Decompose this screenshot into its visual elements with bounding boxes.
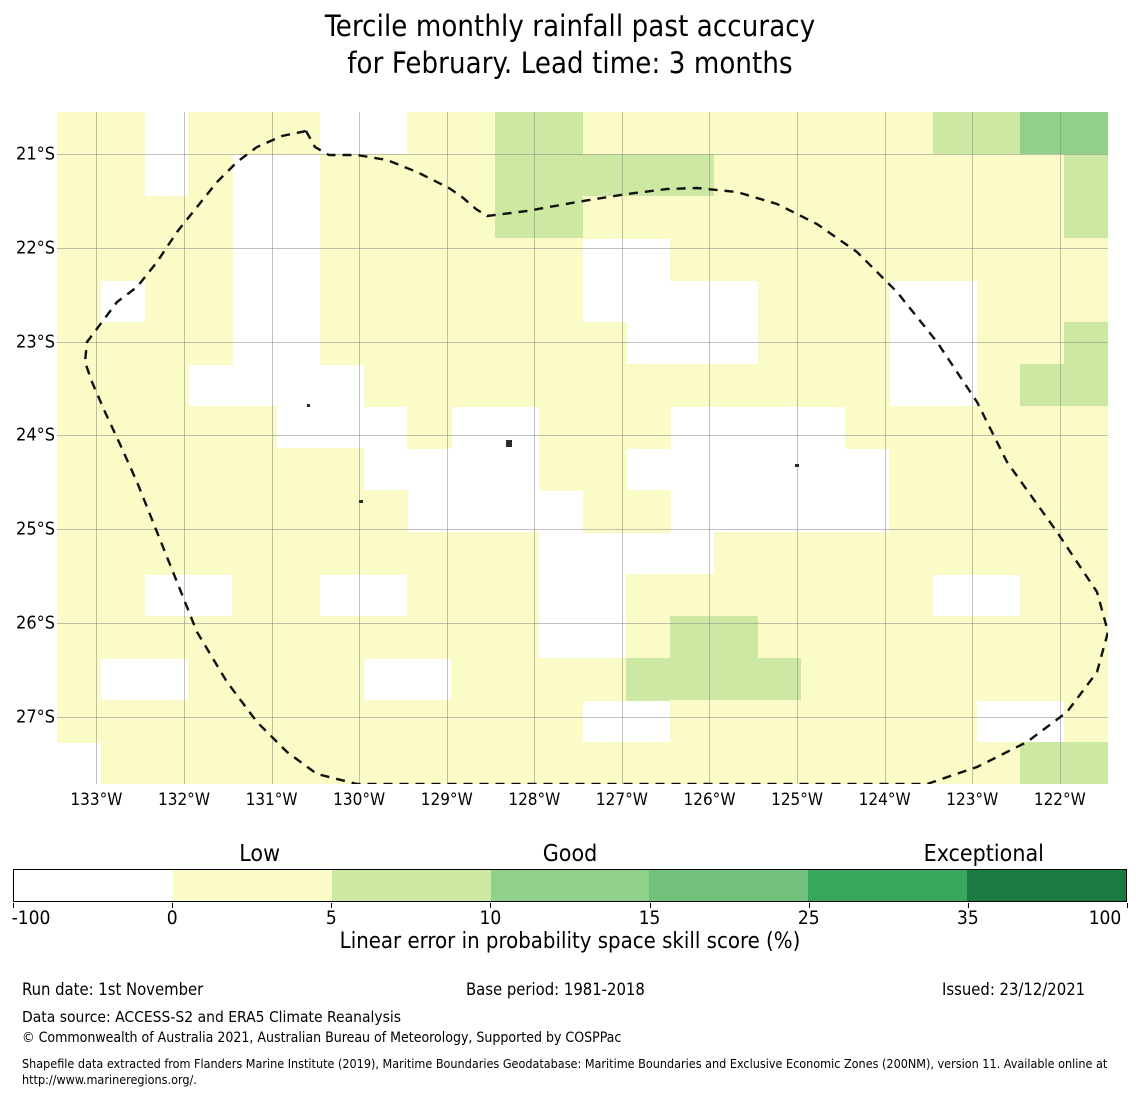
- heatmap-cell: [1020, 406, 1064, 449]
- heatmap-cell: [758, 196, 802, 239]
- heatmap-cell: [626, 574, 670, 617]
- heatmap-cell: [188, 490, 232, 533]
- heatmap-cell: [101, 448, 145, 491]
- latitude-tick-label: 26°S: [0, 612, 55, 633]
- heatmap-cell: [407, 238, 451, 281]
- latitude-tick-label: 25°S: [0, 519, 55, 540]
- heatmap-cell: [583, 448, 627, 491]
- colorbar-quality-label: Low: [239, 841, 280, 867]
- heatmap-cell: [188, 112, 232, 155]
- title-line-2: for February. Lead time: 3 months: [0, 45, 1140, 82]
- heatmap-cell: [451, 112, 495, 155]
- heatmap-cell: [933, 406, 977, 449]
- heatmap-cell: [145, 448, 189, 491]
- heatmap-cell: [451, 364, 495, 407]
- heatmap-cell: [451, 238, 495, 281]
- heatmap-cell: [451, 154, 495, 197]
- heatmap-cell: [364, 280, 408, 323]
- longitude-tick-label: 131°W: [246, 790, 298, 810]
- map-gridline-vertical: [184, 112, 185, 784]
- heatmap-cell: [1064, 112, 1108, 155]
- heatmap-cell: [845, 742, 889, 784]
- heatmap-cell: [1064, 154, 1108, 197]
- heatmap-cell: [495, 364, 539, 407]
- heatmap-cell: [232, 112, 276, 155]
- heatmap-cell: [583, 490, 627, 533]
- latitude-tick-text: 22°S: [0, 237, 55, 258]
- colorbar-tick-label: 0: [167, 907, 178, 929]
- heatmap-cell: [889, 574, 933, 617]
- heatmap-cell: [758, 532, 802, 575]
- footer-meta-row: Run date: 1st November Base period: 1981…: [0, 980, 1140, 1006]
- heatmap-cell: [801, 322, 845, 365]
- heatmap-cell: [758, 700, 802, 743]
- heatmap-cell: [495, 154, 539, 197]
- heatmap-cell: [1020, 154, 1064, 197]
- heatmap-cell: [845, 196, 889, 239]
- heatmap-cell: [57, 280, 101, 323]
- heatmap-cell: [801, 112, 845, 155]
- heatmap-cell: [145, 238, 189, 281]
- heatmap-cell: [1020, 532, 1064, 575]
- heatmap-cell: [495, 322, 539, 365]
- heatmap-cell: [626, 196, 670, 239]
- heatmap-cell: [845, 154, 889, 197]
- heatmap-cell: [276, 742, 320, 784]
- heatmap-cell: [801, 280, 845, 323]
- heatmap-cell: [670, 238, 714, 281]
- colorbar-segment: [491, 870, 650, 901]
- heatmap-cell: [145, 364, 189, 407]
- colorbar-tick-label: 25: [798, 907, 820, 929]
- heatmap-cell: [626, 490, 670, 533]
- map-gridline-vertical: [885, 112, 886, 784]
- heatmap-cell: [758, 742, 802, 784]
- colorbar-segment: [332, 870, 491, 901]
- heatmap-cell: [232, 490, 276, 533]
- heatmap-cell: [407, 574, 451, 617]
- heatmap-cell: [232, 574, 276, 617]
- heatmap-cell: [1064, 742, 1108, 784]
- heatmap-cell: [451, 532, 495, 575]
- heatmap-cell: [57, 448, 101, 491]
- heatmap-cell: [1064, 448, 1108, 491]
- heatmap-cell: [801, 196, 845, 239]
- heatmap-cell: [364, 490, 408, 533]
- heatmap-cell: [977, 364, 1021, 407]
- heatmap-cell: [495, 196, 539, 239]
- heatmap-cell: [758, 280, 802, 323]
- colorbar-tick-label: 15: [639, 907, 661, 929]
- heatmap-cell: [451, 742, 495, 784]
- map-gridline-horizontal: [57, 623, 1108, 624]
- heatmap-cell: [977, 490, 1021, 533]
- heatmap-cell: [1020, 574, 1064, 617]
- map-gridline-horizontal: [57, 248, 1108, 249]
- heatmap-cell: [1020, 322, 1064, 365]
- heatmap-cell: [57, 406, 101, 449]
- latitude-tick-text: 24°S: [0, 425, 55, 446]
- latitude-tick-text: 21°S: [0, 144, 55, 165]
- colorbar-tick-label: -100: [12, 907, 51, 929]
- heatmap-cell: [451, 574, 495, 617]
- heatmap-cell: [626, 154, 670, 197]
- heatmap-cell: [801, 700, 845, 743]
- heatmap-cell: [1020, 112, 1064, 155]
- heatmap-cell: [714, 574, 758, 617]
- heatmap-cell: [320, 742, 364, 784]
- heatmap-cell: [320, 658, 364, 701]
- heatmap-cell: [933, 490, 977, 533]
- map-gridline-vertical: [972, 112, 973, 784]
- heatmap-cell: [889, 448, 933, 491]
- heatmap-cell: [714, 154, 758, 197]
- heatmap-cell: [276, 658, 320, 701]
- heatmap-cell: [451, 196, 495, 239]
- colorbar-tick-label: 5: [326, 907, 337, 929]
- heatmap-cell: [57, 490, 101, 533]
- heatmap-cell: [57, 322, 101, 365]
- heatmap-cell: [407, 364, 451, 407]
- heatmap-cell: [101, 742, 145, 784]
- heatmap-cell: [845, 364, 889, 407]
- data-source-text: Data source: ACCESS-S2 and ERA5 Climate …: [22, 1008, 401, 1026]
- longitude-tick-label: 132°W: [158, 790, 210, 810]
- colorbar-segment: [649, 870, 808, 901]
- heatmap-cell: [276, 700, 320, 743]
- heatmap-cell: [57, 154, 101, 197]
- heatmap-cell: [583, 322, 627, 365]
- heatmap-cell: [364, 742, 408, 784]
- longitude-tick-label: 127°W: [596, 790, 648, 810]
- heatmap-cell: [670, 574, 714, 617]
- heatmap-cell: [933, 448, 977, 491]
- heatmap-cell: [539, 196, 583, 239]
- heatmap-cell: [933, 238, 977, 281]
- heatmap-cell: [407, 742, 451, 784]
- heatmap-cell: [57, 364, 101, 407]
- heatmap-cell: [407, 700, 451, 743]
- map-gridline-horizontal: [57, 435, 1108, 436]
- colorbar-segment: [808, 870, 967, 901]
- heatmap-cell: [276, 448, 320, 491]
- heatmap-cell: [889, 196, 933, 239]
- heatmap-cell: [1020, 658, 1064, 701]
- heatmap-cell: [583, 742, 627, 784]
- heatmap-cell: [670, 364, 714, 407]
- latitude-tick-label: 24°S: [0, 425, 55, 446]
- heatmap-cell: [758, 112, 802, 155]
- heatmap-cell: [320, 196, 364, 239]
- map-panel: [57, 112, 1108, 784]
- colorbar-quality-label: Exceptional: [924, 841, 1044, 867]
- heatmap-cell: [758, 238, 802, 281]
- longitude-tick-label: 123°W: [946, 790, 998, 810]
- heatmap-cell: [539, 154, 583, 197]
- base-period-text: Base period: 1981-2018: [466, 980, 645, 999]
- map-gridline-vertical: [1060, 112, 1061, 784]
- heatmap-cell: [977, 154, 1021, 197]
- heatmap-cell: [145, 490, 189, 533]
- heatmap-cell: [407, 406, 451, 449]
- heatmap-cell: [845, 700, 889, 743]
- heatmap-cell: [57, 112, 101, 155]
- footer: Run date: 1st November Base period: 1981…: [0, 980, 1140, 1006]
- heatmap-cell: [101, 700, 145, 743]
- heatmap-cell: [1020, 448, 1064, 491]
- heatmap-cell: [539, 700, 583, 743]
- heatmap-cell: [714, 532, 758, 575]
- heatmap-cell: [583, 154, 627, 197]
- heatmap-cell: [145, 322, 189, 365]
- heatmap-cell: [407, 112, 451, 155]
- island-marker: [359, 500, 363, 503]
- heatmap-cell: [1064, 280, 1108, 323]
- heatmap-cell: [1020, 490, 1064, 533]
- heatmap-cell: [188, 658, 232, 701]
- heatmap-cell: [758, 574, 802, 617]
- heatmap-cell: [1020, 196, 1064, 239]
- heatmap-cell: [845, 532, 889, 575]
- heatmap-cell: [714, 700, 758, 743]
- heatmap-cell: [364, 700, 408, 743]
- heatmap-cell: [407, 322, 451, 365]
- map-gridline-vertical: [709, 112, 710, 784]
- map-gridline-vertical: [797, 112, 798, 784]
- heatmap-cell: [977, 238, 1021, 281]
- heatmap-cell: [495, 280, 539, 323]
- figure-title: Tercile monthly rainfall past accuracy f…: [0, 8, 1140, 82]
- heatmap-cell: [889, 742, 933, 784]
- colorbar-ticks: -1000510152535100: [0, 903, 1140, 927]
- heatmap-cell: [845, 574, 889, 617]
- heatmap-cell: [57, 658, 101, 701]
- heatmap-cell: [495, 238, 539, 281]
- map-gridline-horizontal: [57, 717, 1108, 718]
- heatmap-cell: [57, 238, 101, 281]
- heatmap-cell: [714, 112, 758, 155]
- heatmap-cell: [145, 196, 189, 239]
- heatmap-cell: [758, 658, 802, 701]
- heatmap-cell: [495, 574, 539, 617]
- heatmap-cell: [1064, 574, 1108, 617]
- heatmap-cell: [670, 658, 714, 701]
- heatmap-cell: [801, 658, 845, 701]
- heatmap-cell: [276, 490, 320, 533]
- heatmap-cell: [626, 112, 670, 155]
- heatmap-cell: [364, 532, 408, 575]
- heatmap-cell: [101, 322, 145, 365]
- heatmap-cell: [933, 154, 977, 197]
- colorbar-tick-label: 10: [480, 907, 502, 929]
- heatmap-cell: [714, 196, 758, 239]
- heatmap-cell: [1020, 280, 1064, 323]
- heatmap-cell: [364, 238, 408, 281]
- heatmap-cell: [57, 196, 101, 239]
- map-gridline-vertical: [272, 112, 273, 784]
- heatmap-cell: [188, 448, 232, 491]
- heatmap-cell: [977, 196, 1021, 239]
- heatmap-cell: [845, 658, 889, 701]
- heatmap-cell: [977, 658, 1021, 701]
- heatmap-cell: [889, 154, 933, 197]
- heatmap-cell: [845, 322, 889, 365]
- heatmap-cell: [539, 406, 583, 449]
- island-marker: [307, 404, 310, 407]
- heatmap-cell: [670, 700, 714, 743]
- heatmap-cell: [539, 112, 583, 155]
- heatmap-cell: [714, 742, 758, 784]
- issued-date-text: Issued: 23/12/2021: [942, 980, 1085, 999]
- heatmap-cell: [539, 238, 583, 281]
- heatmap-cell: [57, 574, 101, 617]
- heatmap-cell: [188, 700, 232, 743]
- heatmap-cell: [845, 280, 889, 323]
- latitude-tick-text: 26°S: [0, 612, 55, 633]
- heatmap-cell: [495, 700, 539, 743]
- heatmap-cell: [495, 742, 539, 784]
- heatmap-cell: [539, 322, 583, 365]
- heatmap-cell: [232, 658, 276, 701]
- figure-root: Tercile monthly rainfall past accuracy f…: [0, 0, 1140, 1095]
- heatmap-cell: [232, 406, 276, 449]
- heatmap-cell: [889, 700, 933, 743]
- heatmap-cell: [845, 112, 889, 155]
- latitude-tick-text: 23°S: [0, 331, 55, 352]
- longitude-tick-label: 130°W: [333, 790, 385, 810]
- heatmap-grid: [57, 112, 1108, 784]
- heatmap-cell: [276, 112, 320, 155]
- heatmap-cell: [364, 154, 408, 197]
- longitude-tick-label: 128°W: [508, 790, 560, 810]
- heatmap-cell: [1064, 658, 1108, 701]
- heatmap-cell: [626, 364, 670, 407]
- heatmap-cell: [889, 406, 933, 449]
- heatmap-cell: [801, 532, 845, 575]
- heatmap-cell: [407, 154, 451, 197]
- heatmap-cell: [188, 742, 232, 784]
- heatmap-cell: [276, 532, 320, 575]
- heatmap-cell: [276, 574, 320, 617]
- heatmap-cell: [714, 364, 758, 407]
- colorbar-tick-label: 100: [1089, 907, 1122, 929]
- heatmap-cell: [801, 742, 845, 784]
- latitude-tick-label: 22°S: [0, 237, 55, 258]
- heatmap-cell: [539, 658, 583, 701]
- colorbar: [13, 869, 1127, 902]
- map-gridline-vertical: [622, 112, 623, 784]
- map-gridline-horizontal: [57, 154, 1108, 155]
- heatmap-cell: [101, 532, 145, 575]
- heatmap-cell: [539, 742, 583, 784]
- heatmap-cell: [407, 532, 451, 575]
- colorbar-tick-label: 35: [957, 907, 979, 929]
- heatmap-cell: [933, 742, 977, 784]
- heatmap-cell: [1064, 490, 1108, 533]
- heatmap-cell: [670, 112, 714, 155]
- longitude-tick-label: 122°W: [1034, 790, 1086, 810]
- heatmap-cell: [714, 238, 758, 281]
- longitude-tick-label: 129°W: [421, 790, 473, 810]
- heatmap-cell: [801, 238, 845, 281]
- longitude-tick-label: 133°W: [70, 790, 122, 810]
- heatmap-cell: [758, 322, 802, 365]
- heatmap-cell: [232, 448, 276, 491]
- heatmap-cell: [1064, 406, 1108, 449]
- colorbar-axis-title: Linear error in probability space skill …: [0, 929, 1140, 954]
- heatmap-cell: [145, 406, 189, 449]
- heatmap-cell: [977, 280, 1021, 323]
- run-date-text: Run date: 1st November: [22, 980, 203, 999]
- heatmap-cell: [320, 700, 364, 743]
- heatmap-cell: [495, 532, 539, 575]
- heatmap-cell: [583, 658, 627, 701]
- heatmap-cell: [145, 742, 189, 784]
- heatmap-cell: [1064, 196, 1108, 239]
- heatmap-cell: [758, 364, 802, 407]
- heatmap-cell: [1020, 238, 1064, 281]
- heatmap-cell: [101, 364, 145, 407]
- heatmap-cell: [101, 196, 145, 239]
- island-marker: [795, 464, 799, 467]
- heatmap-cell: [626, 742, 670, 784]
- heatmap-cell: [320, 490, 364, 533]
- heatmap-cell: [539, 364, 583, 407]
- heatmap-cell: [451, 280, 495, 323]
- heatmap-cell: [232, 700, 276, 743]
- map-gridline-horizontal: [57, 529, 1108, 530]
- heatmap-cell: [451, 658, 495, 701]
- heatmap-cell: [364, 322, 408, 365]
- heatmap-cell: [801, 364, 845, 407]
- heatmap-cell: [232, 532, 276, 575]
- colorbar-quality-label: Good: [543, 841, 598, 867]
- heatmap-cell: [364, 196, 408, 239]
- heatmap-cell: [101, 490, 145, 533]
- title-line-1: Tercile monthly rainfall past accuracy: [0, 8, 1140, 45]
- longitude-tick-label: 125°W: [771, 790, 823, 810]
- heatmap-cell: [626, 406, 670, 449]
- heatmap-cell: [977, 322, 1021, 365]
- heatmap-cell: [145, 532, 189, 575]
- heatmap-cell: [320, 322, 364, 365]
- heatmap-cell: [451, 322, 495, 365]
- heatmap-cell: [977, 742, 1021, 784]
- heatmap-cell: [1020, 364, 1064, 407]
- shapefile-credit-text: Shapefile data extracted from Flanders M…: [22, 1056, 1122, 1088]
- heatmap-cell: [801, 574, 845, 617]
- heatmap-cell: [889, 238, 933, 281]
- heatmap-cell: [1064, 532, 1108, 575]
- heatmap-cell: [977, 112, 1021, 155]
- heatmap-cell: [320, 154, 364, 197]
- latitude-tick-label: 27°S: [0, 706, 55, 727]
- heatmap-cell: [845, 406, 889, 449]
- map-gridline-vertical: [534, 112, 535, 784]
- heatmap-cell: [933, 532, 977, 575]
- heatmap-cell: [539, 448, 583, 491]
- heatmap-cell: [1064, 700, 1108, 743]
- latitude-tick-label: 21°S: [0, 144, 55, 165]
- heatmap-cell: [889, 532, 933, 575]
- heatmap-cell: [583, 406, 627, 449]
- longitude-tick-label: 126°W: [684, 790, 736, 810]
- latitude-tick-text: 25°S: [0, 519, 55, 540]
- heatmap-cell: [1020, 742, 1064, 784]
- map-gridline-vertical: [96, 112, 97, 784]
- heatmap-cell: [57, 700, 101, 743]
- colorbar-segment: [967, 870, 1126, 901]
